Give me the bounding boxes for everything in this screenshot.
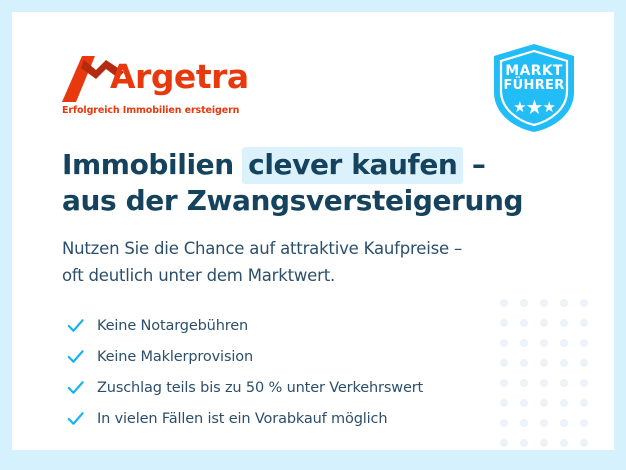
- dot: [580, 339, 588, 347]
- dot: [580, 379, 588, 387]
- dot: [540, 439, 548, 447]
- subheading-line-2: oft deutlich unter dem Marktwert.: [62, 263, 562, 290]
- check-icon: [66, 378, 85, 397]
- subheading: Nutzen Sie die Chance auf attraktive Kau…: [62, 236, 562, 289]
- headline-highlight: clever kaufen: [242, 147, 463, 184]
- logo-row: Argetra: [62, 54, 262, 102]
- benefit-item: Zuschlag teils bis zu 50 % unter Verkehr…: [66, 372, 536, 403]
- badge-stars: ★★★: [488, 98, 580, 118]
- dot: [540, 299, 548, 307]
- ad-banner: Argetra Erfolgreich Immobilien ersteiger…: [0, 0, 626, 470]
- dot: [560, 359, 568, 367]
- dot: [560, 379, 568, 387]
- headline-line-2: aus der Zwangsversteigerung: [62, 183, 532, 219]
- dot: [540, 319, 548, 327]
- dot: [560, 439, 568, 447]
- headline-line-1-suffix: –: [462, 148, 485, 181]
- dot: [500, 439, 508, 447]
- check-icon: [66, 316, 85, 335]
- dot: [500, 299, 508, 307]
- benefits-list: Keine NotargebührenKeine Maklerprovision…: [66, 310, 536, 434]
- dot: [580, 299, 588, 307]
- benefit-item: In vielen Fällen ist ein Vorabkauf mögli…: [66, 403, 536, 434]
- benefit-label: Keine Maklerprovision: [97, 349, 253, 365]
- headline-line-1: Immobilien clever kaufen –: [62, 147, 532, 183]
- dot: [580, 359, 588, 367]
- logo-tagline: Erfolgreich Immobilien ersteigern: [62, 105, 262, 116]
- dot: [580, 439, 588, 447]
- subheading-line-1: Nutzen Sie die Chance auf attraktive Kau…: [62, 236, 562, 263]
- dot: [540, 399, 548, 407]
- dot: [540, 359, 548, 367]
- dot: [560, 399, 568, 407]
- benefit-item: Keine Maklerprovision: [66, 341, 536, 372]
- dot: [580, 419, 588, 427]
- benefit-item: Keine Notargebühren: [66, 310, 536, 341]
- dot: [540, 379, 548, 387]
- check-icon: [66, 347, 85, 366]
- dot: [560, 419, 568, 427]
- headline: Immobilien clever kaufen – aus der Zwang…: [62, 147, 532, 219]
- shield-badge-icon: [488, 42, 580, 134]
- logo-wordmark: Argetra: [110, 60, 249, 93]
- dot: [520, 299, 528, 307]
- ad-canvas: Argetra Erfolgreich Immobilien ersteiger…: [12, 12, 614, 450]
- headline-line-1-prefix: Immobilien: [62, 148, 243, 181]
- dot: [540, 339, 548, 347]
- brand-logo[interactable]: Argetra Erfolgreich Immobilien ersteiger…: [62, 54, 262, 116]
- dot: [560, 319, 568, 327]
- benefit-label: Keine Notargebühren: [97, 318, 248, 334]
- dot: [540, 419, 548, 427]
- benefit-label: Zuschlag teils bis zu 50 % unter Verkehr…: [97, 380, 423, 396]
- dot: [580, 319, 588, 327]
- dot: [560, 299, 568, 307]
- dot: [580, 399, 588, 407]
- dot: [560, 339, 568, 347]
- benefit-label: In vielen Fällen ist ein Vorabkauf mögli…: [97, 411, 387, 427]
- market-leader-badge: MARKT FÜHRER ★★★: [488, 42, 580, 134]
- check-icon: [66, 409, 85, 428]
- dot: [520, 439, 528, 447]
